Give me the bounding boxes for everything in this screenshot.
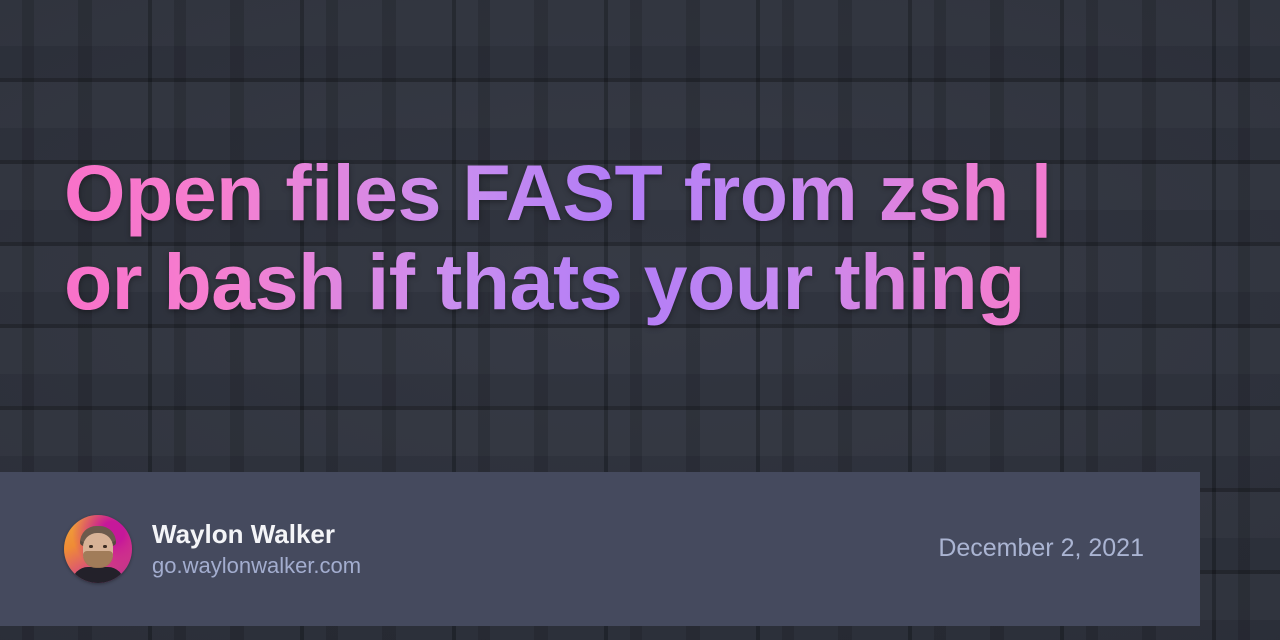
page-title: Open files FAST from zsh | or bash if th… xyxy=(64,148,1216,326)
author-text-block: Waylon Walker go.waylonwalker.com xyxy=(152,519,361,579)
avatar-eye-right xyxy=(103,545,107,548)
publish-date: December 2, 2021 xyxy=(938,534,1144,565)
avatar-eye-left xyxy=(89,545,93,548)
social-share-card: Open files FAST from zsh | or bash if th… xyxy=(0,0,1280,640)
avatar-shoulders xyxy=(72,567,124,583)
author-block[interactable]: Waylon Walker go.waylonwalker.com xyxy=(64,515,938,583)
author-url[interactable]: go.waylonwalker.com xyxy=(152,553,361,579)
footer-bar: Waylon Walker go.waylonwalker.com Decemb… xyxy=(0,472,1200,626)
avatar-beard xyxy=(83,551,113,568)
headline-container: Open files FAST from zsh | or bash if th… xyxy=(0,148,1280,326)
avatar xyxy=(64,515,132,583)
author-name: Waylon Walker xyxy=(152,519,361,549)
